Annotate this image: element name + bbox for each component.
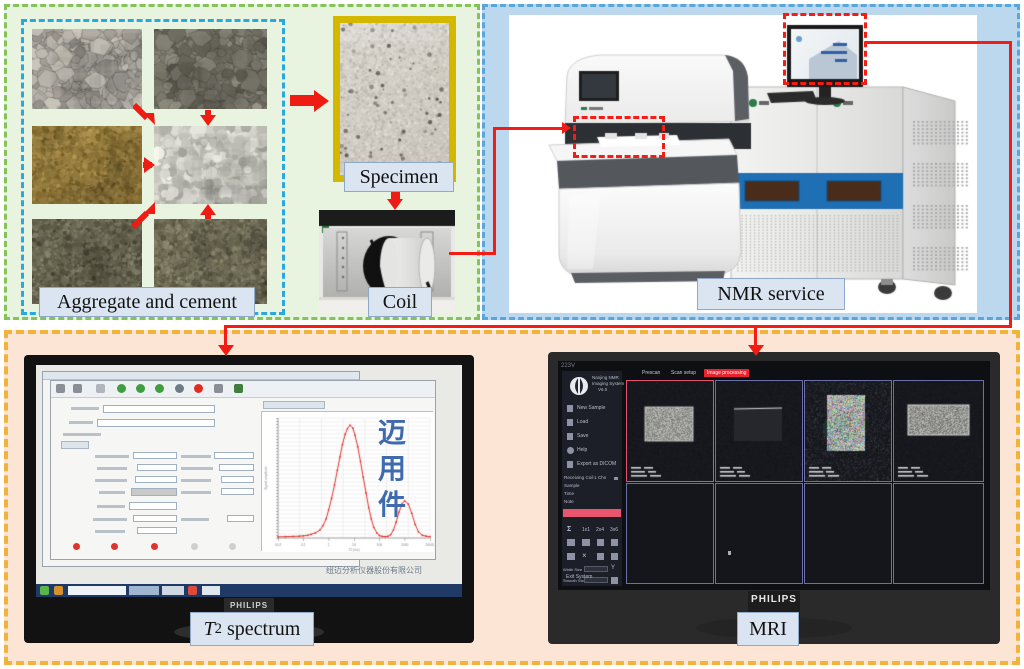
t2-param-label-1 bbox=[95, 455, 129, 458]
t2-param-value-7[interactable] bbox=[131, 488, 177, 496]
label-t2-spectrum: T2 spectrum bbox=[190, 612, 314, 646]
save-icon[interactable] bbox=[567, 433, 573, 440]
label-nmr-service-text: NMR service bbox=[717, 283, 824, 306]
desktop-footer-text: 纽迈分析仪器股份有限公司 bbox=[326, 565, 422, 576]
mri-screen-label: 223V bbox=[561, 363, 575, 369]
mri-slider-label-width: Width Size bbox=[563, 567, 582, 572]
t2-param-label-9 bbox=[97, 505, 125, 508]
taskbar-app-2-icon[interactable] bbox=[188, 586, 197, 595]
t2-monitor-screen[interactable]: 迈 用 件 纽迈分析仪器股份有限公司 bbox=[36, 365, 462, 597]
download-icon[interactable] bbox=[567, 419, 573, 426]
t2-param-value-1[interactable] bbox=[133, 452, 177, 459]
connector-branch-t2-shaft bbox=[224, 325, 227, 349]
t2-status-dot-2[interactable] bbox=[111, 543, 118, 550]
t2-param-value-4[interactable] bbox=[219, 464, 254, 471]
t2-window-titlebar bbox=[43, 372, 359, 380]
mri-menu-export-dicom[interactable]: Export as DICOM bbox=[577, 461, 616, 467]
mri-menu-save[interactable]: Save bbox=[577, 433, 588, 439]
t2-status-dot-4[interactable] bbox=[191, 543, 198, 550]
desktop-watermark-2: 用 bbox=[378, 447, 406, 487]
start-icon[interactable] bbox=[40, 586, 49, 595]
t2-param-label-11 bbox=[181, 518, 209, 521]
t2-monitor: 迈 用 件 纽迈分析仪器股份有限公司 PHILIPS bbox=[24, 355, 474, 643]
t2-sample-select[interactable] bbox=[103, 405, 215, 413]
mri-image-cell-3[interactable] bbox=[804, 380, 892, 482]
mri-menu-load[interactable]: Load bbox=[577, 419, 588, 425]
arrow-to-specimen-head bbox=[314, 90, 329, 112]
label-mri: MRI bbox=[737, 612, 799, 646]
open-icon[interactable] bbox=[56, 384, 65, 393]
t2-param-value-12[interactable] bbox=[137, 527, 177, 534]
label-aggregate-and-cement: Aggregate and cement bbox=[39, 287, 255, 317]
specimen-photo bbox=[333, 16, 456, 182]
material-tile-fine-sand bbox=[32, 126, 142, 204]
t2-file-select[interactable] bbox=[97, 419, 215, 427]
label-t2-symbol: T bbox=[204, 618, 215, 641]
mri-exit-system[interactable]: Exit System bbox=[566, 574, 592, 580]
mri-menu-help[interactable]: Help bbox=[577, 447, 587, 453]
rotate-left-icon[interactable] bbox=[567, 539, 575, 546]
connector-branch-mri-shaft bbox=[754, 325, 757, 349]
tab-image-processing[interactable]: Image processing bbox=[704, 369, 749, 377]
label-specimen: Specimen bbox=[344, 162, 454, 192]
t2-monitor-brand: PHILIPS bbox=[24, 601, 474, 610]
mri-field-label-time: Time bbox=[564, 491, 574, 496]
t2-status-dot-5[interactable] bbox=[229, 543, 236, 550]
t2-toolbar[interactable] bbox=[51, 381, 435, 398]
nmr-tray-highlight-box bbox=[573, 116, 665, 158]
refresh3-icon[interactable] bbox=[155, 384, 164, 393]
t2-param-label-7 bbox=[99, 491, 125, 494]
t2-param-label-6 bbox=[181, 479, 211, 482]
rotate-right-icon[interactable] bbox=[582, 539, 590, 546]
t2-file-label bbox=[69, 421, 93, 424]
t2-param-value-3[interactable] bbox=[137, 464, 177, 471]
mri-logo-line-3: V6.0 bbox=[598, 387, 607, 392]
arrow-bottomleft-to-center bbox=[131, 201, 159, 229]
chart-icon[interactable] bbox=[214, 384, 223, 393]
t2-param-label-12 bbox=[95, 530, 125, 533]
connector-coil-to-nmr-h1 bbox=[449, 252, 496, 255]
refresh2-icon[interactable] bbox=[136, 384, 145, 393]
taskbar-window-4[interactable] bbox=[202, 586, 220, 595]
panel-materials: Aggregate and cement Specimen Coil bbox=[4, 4, 480, 320]
flip-v-icon[interactable] bbox=[611, 539, 618, 546]
desktop-watermark-3: 件 bbox=[378, 483, 406, 523]
t2-param-label-10 bbox=[93, 518, 127, 521]
t2-param-label-2 bbox=[181, 455, 211, 458]
t2-param-label-5 bbox=[95, 479, 127, 482]
label-nmr-service: NMR service bbox=[697, 278, 845, 310]
filter-icon[interactable]: Y bbox=[611, 565, 615, 571]
arrow-top-down-head bbox=[200, 115, 216, 126]
tab-prescan[interactable]: Prescan bbox=[642, 370, 660, 376]
panel-nmr: NMR service bbox=[482, 4, 1020, 320]
tab-scan-setup[interactable]: Scan setup bbox=[671, 370, 696, 376]
export-icon[interactable] bbox=[567, 461, 573, 468]
mri-monitor-brand: PHILIPS bbox=[548, 594, 1000, 605]
material-tile-coarse-aggregate-dark bbox=[154, 29, 267, 109]
label-t2-word: spectrum bbox=[227, 618, 300, 641]
mri-menu-new-sample[interactable]: New Sample bbox=[577, 405, 605, 411]
t2-sample-label bbox=[71, 407, 99, 410]
chevron-down-icon[interactable] bbox=[614, 477, 618, 480]
t2-param-value-6[interactable] bbox=[221, 476, 254, 483]
stop-icon[interactable] bbox=[175, 384, 184, 393]
mri-logo-line-1: Nanjing NMR bbox=[592, 375, 619, 380]
mri-layout-1x1[interactable]: 1x1 bbox=[582, 527, 590, 533]
arrow-topleft-to-center bbox=[133, 103, 159, 129]
t2-tab-params[interactable] bbox=[61, 441, 89, 449]
nmr-monitor-highlight-box bbox=[783, 13, 867, 85]
mri-monitor-screen[interactable]: 223V Nanjing NMR Imaging System V6.0 New… bbox=[558, 361, 990, 590]
t2-param-label-8 bbox=[181, 491, 211, 494]
copy-icon[interactable] bbox=[597, 553, 604, 560]
mri-edit-button[interactable] bbox=[563, 509, 621, 517]
connector-monitor-to-right bbox=[865, 41, 1012, 44]
taskbar-window-1[interactable] bbox=[68, 586, 126, 595]
label-specimen-text: Specimen bbox=[360, 166, 439, 189]
label-mri-text: MRI bbox=[749, 618, 787, 641]
t2-status-dot-3[interactable] bbox=[151, 543, 158, 550]
t2-param-label-3 bbox=[97, 467, 127, 470]
mri-monitor: 223V Nanjing NMR Imaging System V6.0 New… bbox=[548, 352, 1000, 644]
taskbar-window-2[interactable] bbox=[129, 586, 159, 595]
mri-layout-3x6[interactable]: 3x6 bbox=[610, 527, 618, 533]
mri-image-cell-2[interactable] bbox=[715, 380, 803, 482]
flip-h-icon[interactable] bbox=[597, 539, 604, 546]
arrow-specimen-to-coil-head bbox=[387, 199, 403, 210]
refresh-icon[interactable] bbox=[117, 384, 126, 393]
t2-plot-area[interactable] bbox=[261, 411, 433, 551]
mri-slider-width[interactable] bbox=[584, 566, 608, 572]
nmr-logo-icon bbox=[568, 376, 590, 396]
sigma-icon[interactable]: Σ bbox=[567, 526, 571, 533]
label-aggregate-text: Aggregate and cement bbox=[57, 291, 237, 314]
connector-coil-to-nmr-h2 bbox=[493, 127, 565, 130]
arrow-bottom-up-head bbox=[200, 204, 216, 215]
t2-checkbox-label[interactable] bbox=[63, 433, 101, 436]
t2-param-value-2[interactable] bbox=[214, 452, 254, 459]
material-tile-cement-powder bbox=[154, 126, 267, 204]
mri-field-label-sample: Sample bbox=[564, 483, 580, 488]
mri-image-cell-4[interactable] bbox=[893, 380, 984, 482]
mri-image-cell-5[interactable] bbox=[626, 483, 714, 584]
mri-image-cell-6[interactable] bbox=[715, 483, 803, 584]
t2-taskbar[interactable] bbox=[36, 584, 462, 597]
t2-param-value-9[interactable] bbox=[129, 502, 177, 510]
taskbar-window-3[interactable] bbox=[162, 586, 184, 595]
close-icon[interactable]: × bbox=[582, 551, 587, 560]
mri-image-cell-8[interactable] bbox=[893, 483, 984, 584]
cut-icon[interactable] bbox=[96, 384, 105, 393]
connector-right-vertical bbox=[1009, 41, 1012, 328]
mri-field-label-note: Note bbox=[564, 499, 574, 504]
label-t2-subscript: 2 bbox=[215, 621, 222, 638]
mri-field-value-coil[interactable]: 1 Chn bbox=[594, 475, 606, 480]
mri-image-cell-7[interactable] bbox=[804, 483, 892, 584]
label-coil: Coil bbox=[368, 287, 432, 317]
t2-plot-tab[interactable] bbox=[263, 401, 325, 409]
measure-icon[interactable] bbox=[234, 384, 243, 393]
label-coil-text: Coil bbox=[383, 291, 417, 314]
t2-status-dot-1[interactable] bbox=[73, 543, 80, 550]
material-tile-coarse-aggregate-light bbox=[32, 29, 142, 109]
figure-root: Aggregate and cement Specimen Coil NMR s… bbox=[0, 0, 1024, 669]
mri-image-cell-1[interactable] bbox=[626, 380, 714, 482]
desktop-watermark-1: 迈 bbox=[378, 411, 406, 451]
t2-param-label-4 bbox=[181, 467, 213, 470]
document-icon[interactable] bbox=[567, 405, 573, 412]
t2-spectrum-chart bbox=[262, 412, 434, 552]
arrow-to-specimen-shaft bbox=[290, 95, 316, 106]
save-icon[interactable] bbox=[73, 384, 82, 393]
crop-icon[interactable] bbox=[567, 553, 575, 560]
nmr-machine-photo bbox=[509, 15, 977, 313]
contrast-icon[interactable] bbox=[611, 553, 618, 560]
taskbar-app-1-icon[interactable] bbox=[54, 586, 63, 595]
t2-param-value-5[interactable] bbox=[135, 476, 177, 483]
record-icon[interactable] bbox=[194, 384, 203, 393]
mri-layout-2x4[interactable]: 2x4 bbox=[596, 527, 604, 533]
connector-results-bus bbox=[224, 325, 1012, 328]
mri-field-label-coil: Receiving Coil bbox=[564, 475, 593, 480]
mri-logo-line-2: Imaging System bbox=[592, 381, 624, 386]
help-icon[interactable] bbox=[567, 447, 574, 454]
wand-icon[interactable] bbox=[611, 577, 618, 584]
t2-param-value-8[interactable] bbox=[221, 488, 254, 495]
arrow-left-right-head bbox=[144, 157, 155, 173]
t2-param-value-10[interactable] bbox=[133, 515, 177, 522]
t2-param-value-11[interactable] bbox=[227, 515, 254, 522]
connector-coil-to-nmr-v bbox=[493, 127, 496, 255]
cursor-icon bbox=[728, 551, 731, 555]
